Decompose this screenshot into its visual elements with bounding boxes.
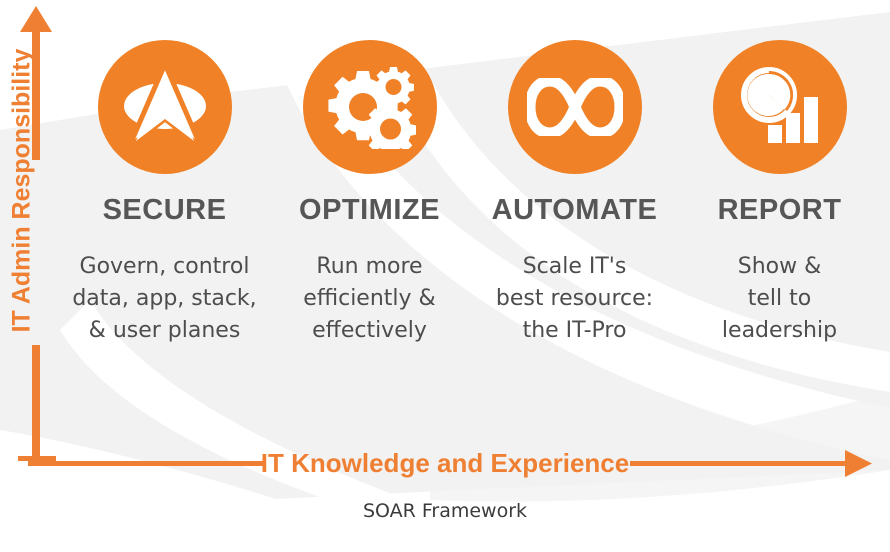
report-description: Show & tell to leadership [722,251,837,347]
pie-bar-chart-icon [738,67,822,147]
optimize-icon-circle[interactable] [303,40,437,174]
pillar-automate[interactable]: AUTOMATE Scale IT's best resource: the I… [472,40,677,347]
automate-icon-circle[interactable] [508,40,642,174]
optimize-title: OPTIMIZE [299,196,440,225]
secure-description: Govern, control data, app, stack, & user… [72,251,256,347]
infinity-icon [527,78,623,136]
gears-icon [324,65,416,149]
shield-arrow-icon [122,61,208,153]
secure-icon-circle[interactable] [98,40,232,174]
optimize-description: Run more efficiently & effectively [303,251,435,347]
pillar-report[interactable]: REPORT Show & tell to leadership [677,40,882,347]
soar-framework-diagram: IT Admin Responsibility SECURE Govern, c… [0,0,890,552]
report-icon-circle[interactable] [713,40,847,174]
pillar-optimize[interactable]: OPTIMIZE Run more efficiently & effectiv… [267,40,472,347]
diagram-caption: SOAR Framework [0,500,890,522]
horizontal-axis-label: IT Knowledge and Experience [0,440,890,486]
secure-title: SECURE [103,196,227,225]
automate-description: Scale IT's best resource: the IT-Pro [496,251,653,347]
pillar-columns: SECURE Govern, control data, app, stack,… [62,40,882,390]
automate-title: AUTOMATE [492,196,658,225]
vertical-axis-label: IT Admin Responsibility [8,21,37,361]
pillar-secure[interactable]: SECURE Govern, control data, app, stack,… [62,40,267,347]
report-title: REPORT [718,196,842,225]
